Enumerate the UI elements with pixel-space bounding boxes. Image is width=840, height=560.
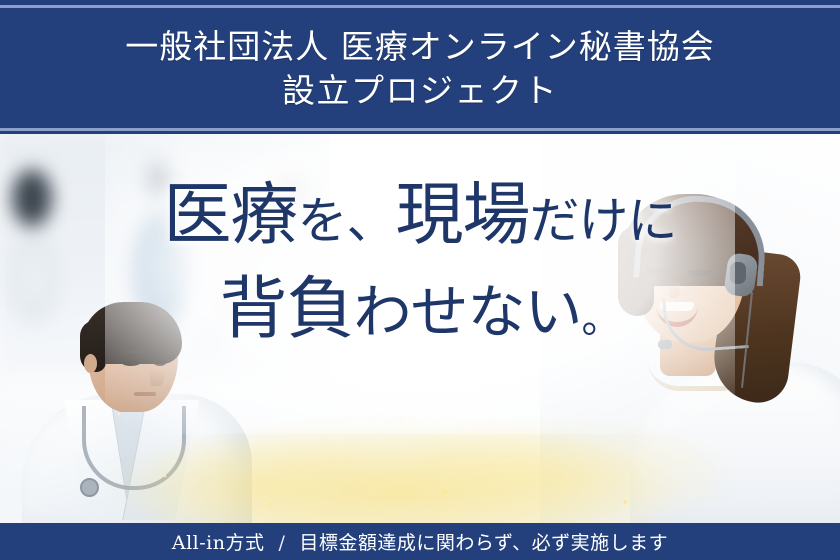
doctor-eye-far	[154, 360, 166, 366]
funding-type-label: All-in方式	[172, 532, 265, 554]
hero-stage: 医療を、現場だけに 背負わせない。 医療を支える 新しい仕組み の確立を目指しま…	[0, 134, 840, 523]
footer-separator: /	[264, 532, 299, 554]
doctor-nose	[150, 368, 164, 386]
project-name: 設立プロジェクト	[282, 70, 558, 113]
doctor-ear	[84, 354, 97, 373]
header-band: 一般社団法人 医療オンライン秘書協会 設立プロジェクト	[0, 0, 840, 134]
doctor-photo	[0, 134, 330, 523]
funding-notice: All-in方式/目標金額達成に関わらず、必ず実施します	[172, 528, 668, 555]
headset-earcup-inner	[730, 262, 746, 284]
foreground-doctor	[22, 302, 262, 523]
footer-band: All-in方式/目標金額達成に関わらず、必ず実施します	[0, 523, 840, 560]
doctor-eye-near	[122, 360, 140, 366]
header-top-rule	[0, 5, 840, 8]
headset-microphone-icon	[658, 340, 672, 349]
organization-name: 一般社団法人 医療オンライン秘書協会	[125, 28, 715, 67]
doctor-mouth	[134, 392, 156, 396]
kv-poster: 一般社団法人 医療オンライン秘書協会 設立プロジェクト	[0, 0, 840, 560]
funding-description: 目標金額達成に関わらず、必ず実施します	[299, 532, 668, 554]
stethoscope-bell-icon	[80, 478, 99, 497]
operator-nose	[668, 280, 680, 298]
operator-photo	[540, 134, 840, 523]
header-text-group: 一般社団法人 医療オンライン秘書協会 設立プロジェクト	[0, 10, 840, 130]
